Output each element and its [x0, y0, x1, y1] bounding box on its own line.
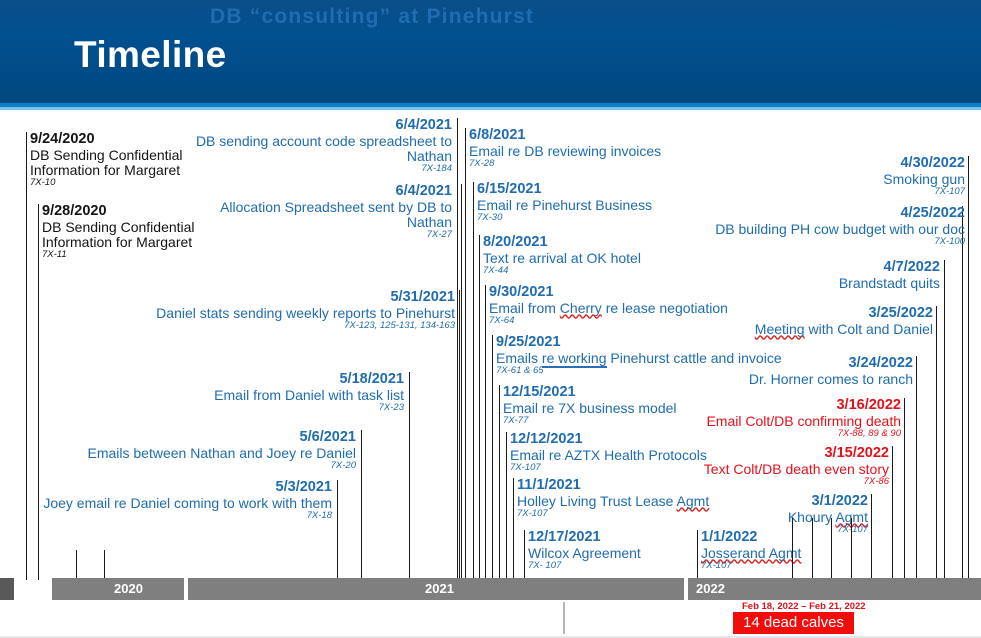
timeline-tick [851, 518, 852, 580]
timeline-tick [513, 478, 514, 580]
timeline-tick [337, 480, 338, 580]
timeline-tick [485, 285, 486, 580]
event-date: 3/25/2022 [690, 306, 933, 322]
timeline-event[interactable]: 5/6/2021Emails between Nathan and Joey r… [80, 430, 356, 471]
event-exhibit-number: 7X-20 [80, 461, 356, 471]
event-date: 3/15/2022 [680, 446, 889, 462]
event-date: 8/20/2021 [483, 235, 713, 251]
timeline-event[interactable]: 6/8/2021Email re DB reviewing invoices7X… [469, 128, 699, 169]
timeline-event[interactable]: 1/1/2022Josserand Agmt7X-107 [701, 530, 861, 571]
timeline-event[interactable]: 6/4/2021DB sending account code spreadsh… [180, 118, 452, 174]
timeline-event[interactable]: 4/7/2022Brandstadt quits [700, 260, 940, 291]
timeline-tick [409, 372, 410, 580]
timeline-event[interactable]: 5/18/2021Email from Daniel with task lis… [180, 372, 404, 413]
event-date: 6/4/2021 [180, 118, 452, 134]
event-date: 4/7/2022 [700, 260, 940, 276]
event-exhibit-number: 7X-107 [700, 525, 868, 535]
event-description: Email Colt/DB confirming death [680, 414, 901, 429]
footer-divider [563, 602, 565, 634]
event-date: 3/24/2022 [690, 356, 913, 372]
timeline-event[interactable]: 4/25/2022DB building PH cow budget with … [690, 206, 965, 247]
timeline-tick [361, 430, 362, 580]
timeline-tick [697, 530, 698, 580]
event-date: 4/25/2022 [690, 206, 965, 222]
timeline-tick [506, 432, 507, 580]
event-description: Josserand Agmt [701, 546, 861, 561]
event-exhibit-number: 7X-184 [180, 164, 452, 174]
timeline-event[interactable]: 12/17/2021Wilcox Agreement7X- 107 [528, 530, 708, 571]
year-label: 2021 [425, 581, 454, 596]
timeline-event[interactable]: 3/16/2022Email Colt/DB confirming death7… [680, 398, 901, 439]
timeline-event[interactable]: 5/3/2021Joey email re Daniel coming to w… [38, 480, 332, 521]
event-date: 3/16/2022 [680, 398, 901, 414]
event-description: Email from Daniel with task list [180, 388, 404, 403]
event-exhibit-number: 7X-30 [477, 213, 707, 223]
event-exhibit-number: 7X-123, 125-131, 134-163 [130, 321, 455, 331]
footer-caption: DB “consulting” at Pinehurst [210, 5, 534, 29]
event-exhibit-number: 7X-18 [38, 511, 332, 521]
timeline-tick [38, 204, 39, 580]
calf-date-range: Feb 18, 2022 – Feb 21, 2022 [742, 601, 866, 612]
timeline-event[interactable]: 3/25/2022Meeting with Colt and Daniel [690, 306, 933, 337]
timeline-event[interactable]: 6/4/2021Allocation Spreadsheet sent by D… [180, 184, 452, 240]
timeline-tick [968, 156, 969, 580]
event-date: 5/6/2021 [80, 430, 356, 446]
event-description: Emails between Nathan and Joey re Daniel [80, 446, 356, 461]
event-description: Text re arrival at OK hotel [483, 251, 713, 266]
event-description: Allocation Spreadsheet sent by DB to Nat… [180, 200, 452, 230]
year-label: 2020 [114, 581, 143, 596]
timeline-tick [871, 494, 872, 580]
timeline-tick [892, 446, 893, 580]
timeline-event[interactable]: 3/24/2022Dr. Horner comes to ranch [690, 356, 913, 387]
event-date: 5/31/2021 [130, 290, 455, 306]
timeline-tick [962, 206, 963, 580]
event-exhibit-number: 7X-107 [700, 187, 965, 197]
timeline-tick [473, 182, 474, 580]
event-exhibit-number: 7X-28 [469, 159, 699, 169]
timeline-tick [916, 356, 917, 580]
event-date: 4/30/2022 [700, 156, 965, 172]
event-date: 5/18/2021 [180, 372, 404, 388]
timeline-tick [104, 550, 105, 580]
event-date: 6/8/2021 [469, 128, 699, 144]
timeline-tick [936, 306, 937, 580]
timeline-tick [812, 518, 813, 580]
event-exhibit-number: 7X-27 [180, 230, 452, 240]
timeline-tick [76, 550, 77, 580]
event-description: Brandstadt quits [700, 276, 940, 291]
event-exhibit-number: 7X-107 [701, 561, 861, 571]
timeline-event[interactable]: 5/31/2021Daniel stats sending weekly rep… [130, 290, 455, 331]
event-date: 12/17/2021 [528, 530, 708, 546]
event-description: DB sending account code spreadsheet to N… [180, 134, 452, 164]
timeline-tick [461, 184, 462, 580]
spellcheck-mark: Cherry [560, 300, 602, 316]
event-description: Joey email re Daniel coming to work with… [38, 496, 332, 511]
timeline-tick [479, 235, 480, 580]
timeline-event[interactable]: 6/15/2021Email re Pinehurst Business7X-3… [477, 182, 707, 223]
year-axis: 202020212022 [0, 578, 981, 600]
event-description: DB building PH cow budget with our doc [690, 222, 965, 237]
event-exhibit-number: 7X-100 [690, 237, 965, 247]
event-exhibit-number: 7X-88, 89 & 90 [680, 429, 901, 439]
timeline-tick [524, 530, 525, 580]
timeline-event[interactable]: 3/15/2022Text Colt/DB death even story7X… [680, 446, 889, 487]
event-description: Text Colt/DB death even story [680, 462, 889, 477]
year-bar-2022: 2022 [688, 578, 981, 600]
year-bar-2020: 2020 [52, 578, 184, 600]
event-exhibit-number: 7X-11 [42, 250, 242, 260]
timeline-tick [465, 128, 466, 580]
year-bar-2021: 2021 [188, 578, 684, 600]
event-description: Meeting with Colt and Daniel [690, 322, 933, 337]
timeline-tick [904, 398, 905, 580]
spellcheck-mark: Josserand Agmt [701, 545, 801, 561]
timeline-tick [492, 335, 493, 580]
event-date: 5/3/2021 [38, 480, 332, 496]
event-date: 6/4/2021 [180, 184, 452, 200]
event-date: 9/25/2021 [496, 335, 796, 351]
event-description: Daniel stats sending weekly reports to P… [130, 306, 455, 321]
event-date: 3/1/2022 [700, 494, 868, 510]
event-description: Email re Pinehurst Business [477, 198, 707, 213]
event-description: Khoury Agmt [700, 510, 868, 525]
timeline-tick [457, 118, 458, 580]
timeline-tick [831, 518, 832, 580]
event-description: Dr. Horner comes to ranch [690, 372, 913, 387]
timeline-event[interactable]: 4/30/2022Smoking gun7X-107 [700, 156, 965, 197]
axis-left-stub [0, 578, 14, 600]
event-exhibit-number: 7X-86 [680, 477, 889, 487]
calf-badge: 14 dead calves [733, 612, 854, 634]
event-date: 6/15/2021 [477, 182, 707, 198]
timeline-tick [26, 132, 27, 580]
spellcheck-mark: Meeting [755, 321, 805, 337]
timeline-event[interactable]: 3/1/2022Khoury Agmt7X-107 [700, 494, 868, 535]
event-description: Wilcox Agreement [528, 546, 708, 561]
timeline-tick [459, 290, 460, 580]
event-description: Email re DB reviewing invoices [469, 144, 699, 159]
year-label: 2022 [696, 581, 725, 596]
timeline-event[interactable]: 8/20/2021Text re arrival at OK hotel7X-4… [483, 235, 713, 276]
timeline-tick [792, 518, 793, 580]
event-exhibit-number: 7X- 107 [528, 561, 708, 571]
page-title: Timeline [74, 34, 227, 76]
spellcheck-mark: re working [542, 350, 607, 368]
event-exhibit-number: 7X-23 [180, 403, 404, 413]
event-description: Smoking gun [700, 172, 965, 187]
timeline-canvas: 9/24/2020DB Sending Confidential Informa… [0, 110, 981, 580]
timeline-tick [499, 385, 500, 580]
event-exhibit-number: 7X-44 [483, 266, 713, 276]
timeline-tick [944, 260, 945, 580]
